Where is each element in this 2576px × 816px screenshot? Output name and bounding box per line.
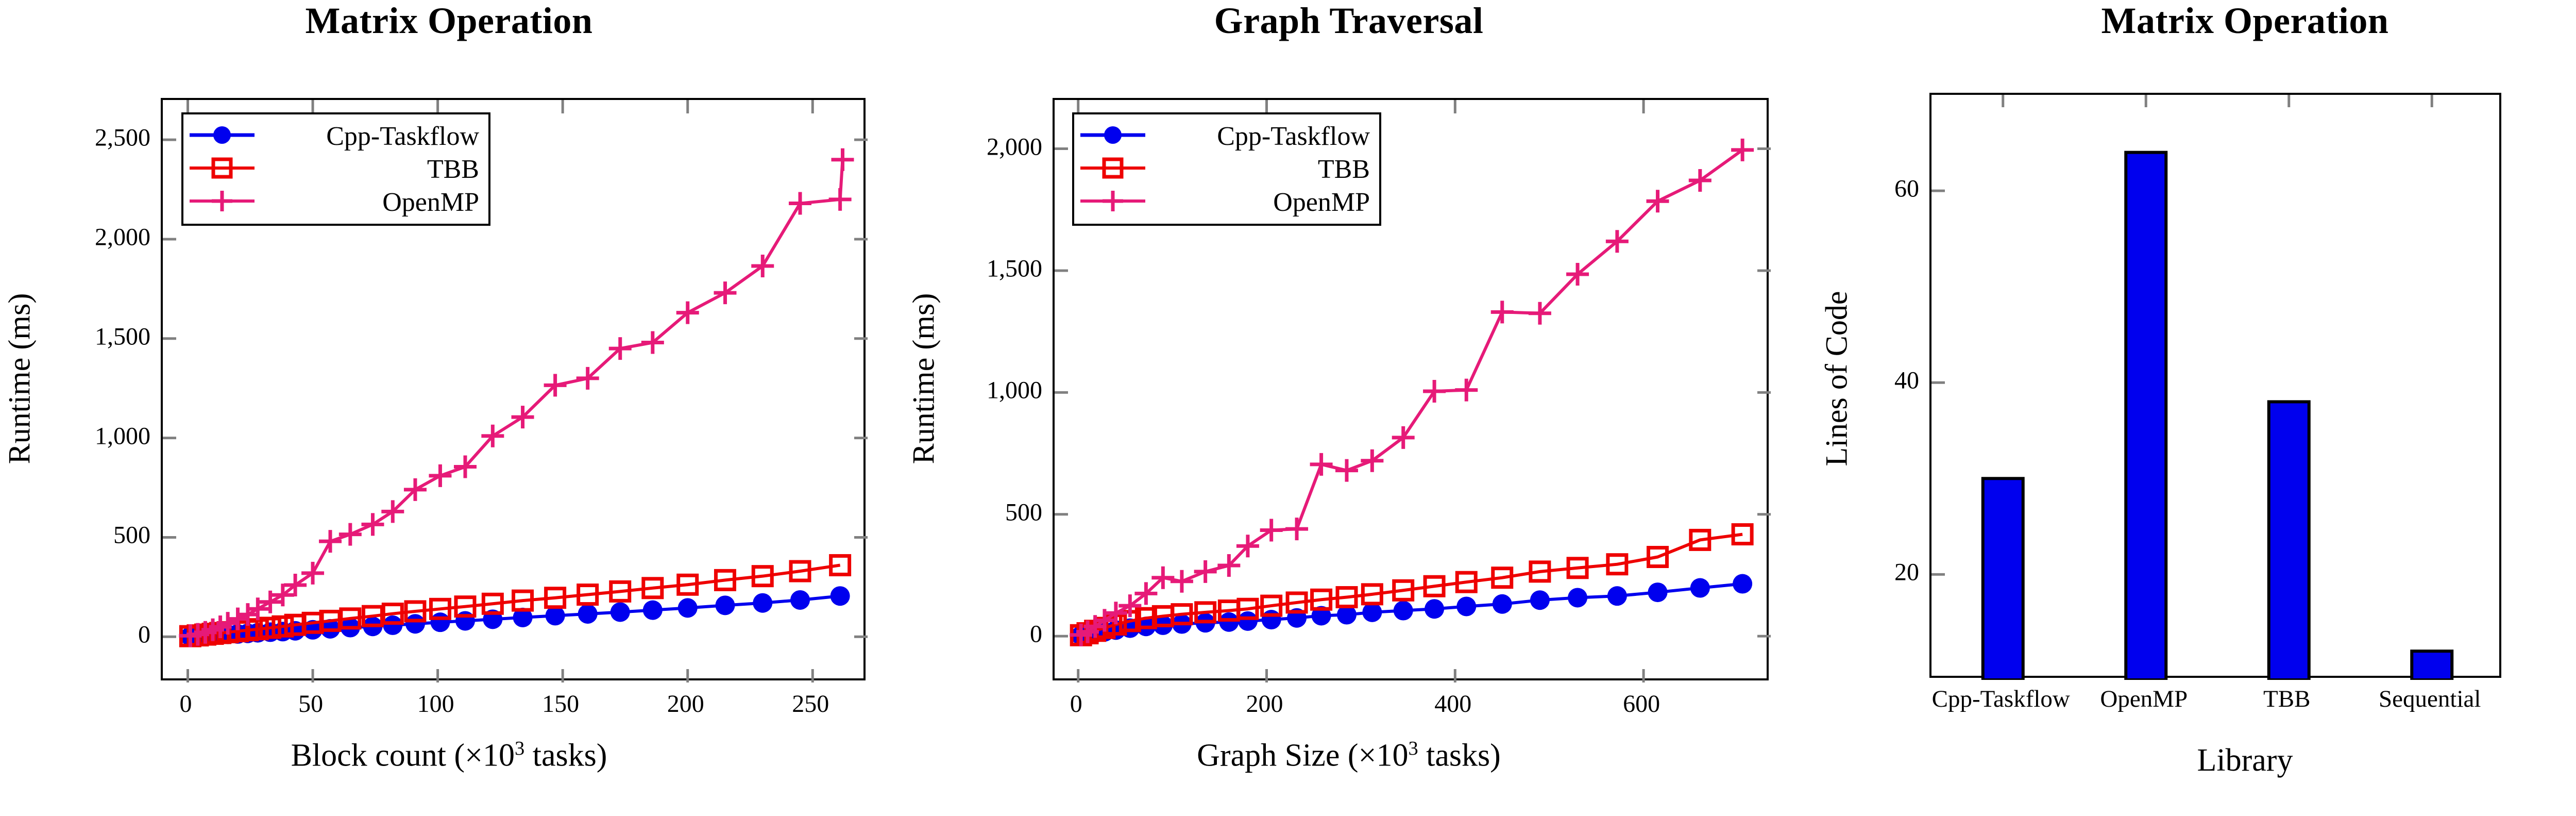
legend-label-openmp: OpenMP [256, 187, 481, 218]
x-tick-label: 200 [667, 690, 704, 718]
legend-item-openmp[interactable]: OpenMP [189, 186, 481, 219]
bar-sequential [2412, 651, 2452, 680]
legend-item-openmp[interactable]: OpenMP [1079, 186, 1372, 219]
panel2-legend: Cpp-Taskflow TBB OpenMP [1072, 112, 1381, 226]
bar-tbb [2269, 402, 2309, 680]
panel3-plot-area [1929, 93, 2501, 678]
panel2-title: Graph Traversal [898, 2, 1800, 39]
series-tbb [1072, 525, 1752, 645]
y-tick-label: 2,500 [16, 124, 150, 152]
bar-openmp [2126, 153, 2166, 680]
panel2-x-axis-label: Graph Size (×103 tasks) [898, 737, 1800, 774]
y-tick-label: 1,000 [908, 376, 1042, 405]
figure-row: Matrix Operation Runtime (ms) Block coun… [0, 0, 2576, 816]
legend-marker-open-square-icon [1079, 155, 1146, 184]
y-tick-label: 1,000 [16, 422, 150, 450]
legend-item-tbb[interactable]: TBB [1079, 153, 1372, 186]
panel1-y-axis-label: Runtime (ms) [2, 224, 38, 534]
y-tick-label: 2,000 [16, 223, 150, 251]
panel1-x-axis-label: Block count (×103 tasks) [0, 737, 898, 774]
y-tick-label: 2,000 [908, 132, 1042, 161]
panel3-title: Matrix Operation [1800, 2, 2576, 39]
x-tick-label: 0 [1070, 690, 1082, 718]
x-tick-label: 100 [417, 690, 454, 718]
legend-marker-filled-circle-icon [189, 122, 256, 151]
legend-marker-filled-circle-icon [1079, 122, 1146, 151]
legend-marker-open-square-icon [189, 155, 256, 184]
x-tick-label: 600 [1623, 690, 1660, 718]
panel1-xlabel-prefix: Block count (×10 [291, 738, 515, 773]
legend-item-tbb[interactable]: TBB [189, 153, 481, 186]
category-label: TBB [2263, 685, 2310, 713]
panel-matrix-operation-loc: Matrix Operation Lines of Code Library 2… [1800, 0, 2576, 816]
x-tick-label: 150 [542, 690, 579, 718]
x-tick-label: 400 [1434, 690, 1471, 718]
y-tick-label: 60 [1801, 175, 1919, 203]
category-label: Sequential [2379, 685, 2481, 713]
panel1-xlabel-suffix: tasks) [524, 738, 607, 773]
x-tick-label: 250 [792, 690, 829, 718]
panel1-xlabel-exponent: 3 [515, 738, 524, 759]
legend-label-cpp-taskflow: Cpp-Taskflow [1146, 121, 1372, 152]
y-tick-label: 0 [16, 621, 150, 649]
legend-marker-plus-icon [1079, 188, 1146, 217]
panel-matrix-operation-runtime: Matrix Operation Runtime (ms) Block coun… [0, 0, 898, 816]
panel3-data-layer [1931, 95, 2503, 680]
y-tick-label: 500 [16, 521, 150, 549]
panel3-x-axis-label: Library [1800, 742, 2576, 779]
y-tick-label: 1,500 [908, 254, 1042, 282]
y-tick-label: 500 [908, 498, 1042, 526]
panel1-legend: Cpp-Taskflow TBB OpenMP [181, 112, 490, 226]
legend-marker-plus-icon [189, 188, 256, 217]
y-tick-label: 40 [1801, 367, 1919, 395]
category-label: OpenMP [2100, 685, 2188, 713]
legend-item-cpp-taskflow[interactable]: Cpp-Taskflow [1079, 120, 1372, 153]
category-label: Cpp-Taskflow [1932, 685, 2070, 713]
legend-label-tbb: TBB [1146, 154, 1372, 185]
y-tick-label: 0 [908, 620, 1042, 648]
legend-item-cpp-taskflow[interactable]: Cpp-Taskflow [189, 120, 481, 153]
legend-label-openmp: OpenMP [1146, 187, 1372, 218]
y-tick-label: 1,500 [16, 322, 150, 351]
x-tick-label: 200 [1246, 690, 1283, 718]
x-tick-label: 50 [298, 690, 323, 718]
x-tick-label: 0 [180, 690, 192, 718]
y-tick-label: 20 [1801, 558, 1919, 587]
panel2-xlabel-suffix: tasks) [1418, 738, 1501, 773]
legend-label-cpp-taskflow: Cpp-Taskflow [256, 121, 481, 152]
panel2-xlabel-prefix: Graph Size (×10 [1197, 738, 1408, 773]
legend-label-tbb: TBB [256, 154, 481, 185]
bar-cpp-taskflow [1983, 478, 2023, 680]
panel2-xlabel-exponent: 3 [1408, 738, 1418, 759]
panel-graph-traversal-runtime: Graph Traversal Runtime (ms) Graph Size … [898, 0, 1800, 816]
panel1-title: Matrix Operation [0, 2, 898, 39]
